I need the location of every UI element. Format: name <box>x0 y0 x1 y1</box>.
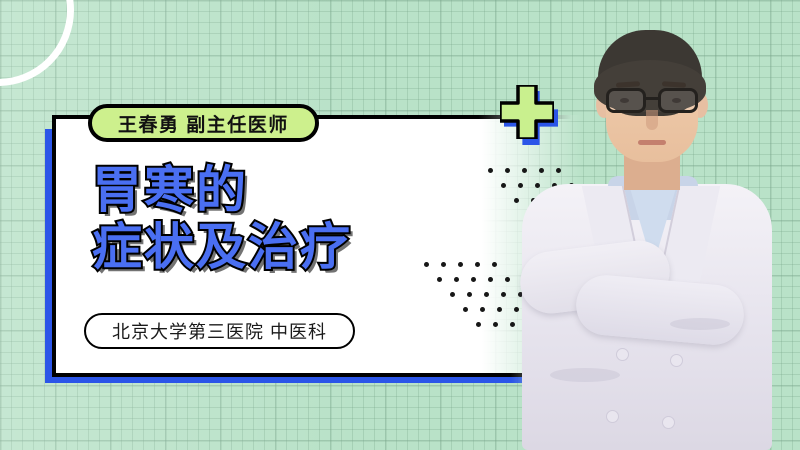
dot <box>467 292 472 297</box>
dot <box>476 322 481 327</box>
dot <box>514 307 519 312</box>
coat-button <box>606 410 619 423</box>
dot <box>488 168 493 173</box>
dot <box>475 262 480 267</box>
dot <box>501 183 506 188</box>
dot <box>505 277 510 282</box>
video-thumbnail: 王春勇 副主任医师 胃寒的 症状及治疗 北京大学第三医院 中医科 <box>0 0 800 450</box>
dot <box>510 322 515 327</box>
coat-fold <box>670 318 730 330</box>
dot <box>454 277 459 282</box>
medical-cross-icon <box>500 85 560 145</box>
dot <box>471 277 476 282</box>
card-bottom-border <box>52 373 572 377</box>
coat-button <box>616 348 629 361</box>
doctor-name-text: 王春勇 副主任医师 <box>118 110 289 137</box>
dot <box>484 292 489 297</box>
dot <box>480 307 485 312</box>
hospital-badge: 北京大学第三医院 中医科 <box>84 313 355 349</box>
coat-button <box>670 354 683 367</box>
card-bottom-shadow <box>45 377 563 383</box>
glasses-lens-right <box>658 88 698 113</box>
page-title: 胃寒的 症状及治疗 <box>92 162 352 276</box>
dot <box>488 277 493 282</box>
dot <box>450 292 455 297</box>
dot <box>463 307 468 312</box>
glasses-lens-left <box>606 88 646 113</box>
title-line-2: 症状及治疗 <box>92 219 352 276</box>
dot <box>441 262 446 267</box>
doctor-portrait <box>520 18 800 450</box>
dot <box>458 262 463 267</box>
dot <box>492 262 497 267</box>
card-left-shadow <box>45 129 52 383</box>
coat-button <box>662 416 675 429</box>
coat-fold <box>550 368 620 382</box>
doctor-name-badge: 王春勇 副主任医师 <box>88 104 319 142</box>
hospital-text: 北京大学第三医院 中医科 <box>112 318 327 344</box>
nose <box>646 110 658 130</box>
dot <box>501 292 506 297</box>
dot <box>437 277 442 282</box>
mouth <box>638 140 666 145</box>
card-left-border <box>52 115 56 377</box>
dot <box>514 198 519 203</box>
dot <box>505 168 510 173</box>
dot <box>493 322 498 327</box>
decorative-circle-ring <box>0 0 74 86</box>
dot <box>497 307 502 312</box>
glasses-bridge <box>646 97 660 100</box>
title-line-1: 胃寒的 <box>92 162 352 219</box>
dot <box>424 262 429 267</box>
cross-shape <box>500 85 554 139</box>
